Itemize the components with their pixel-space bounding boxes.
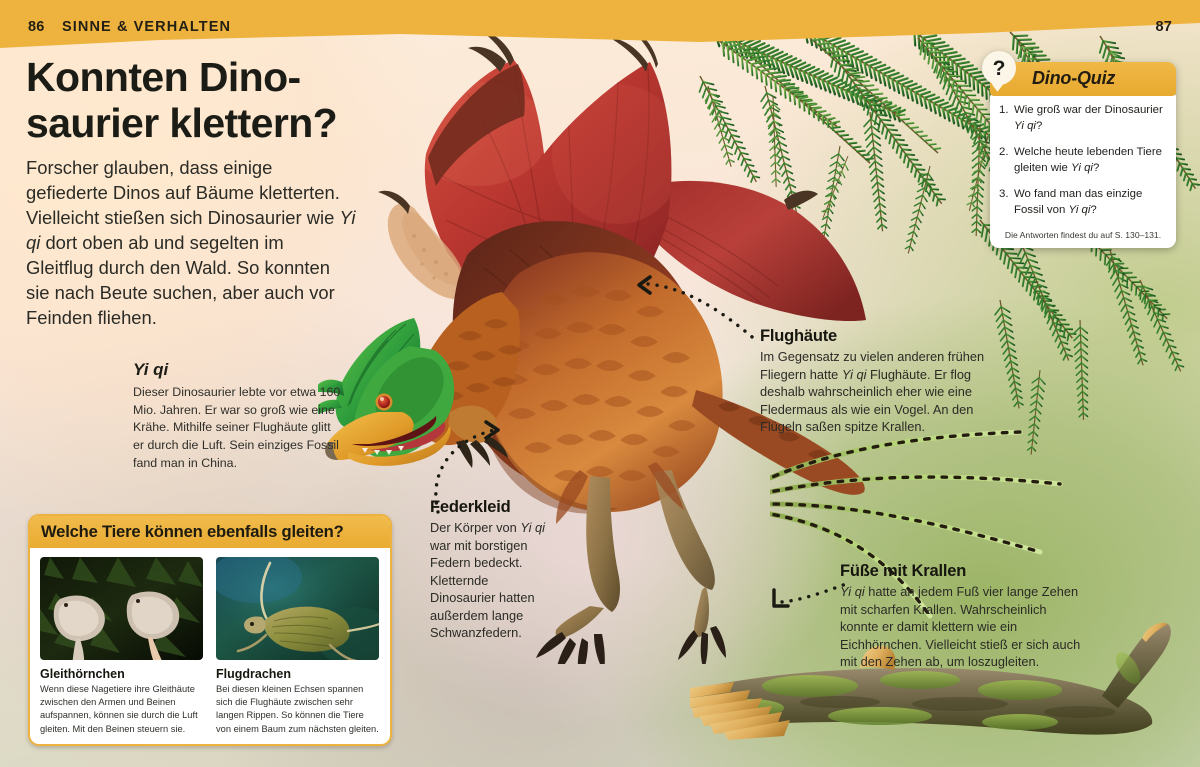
dino-quiz-title: Dino-Quiz: [1032, 68, 1115, 89]
quiz-item: 2.Welche heute lebenden Tiere gleiten wi…: [999, 145, 1167, 176]
gliding-squirrel-photo: [40, 557, 203, 660]
panel-item-flugdrachen: Flugdrachen Bei diesen kleinen Echsen sp…: [216, 557, 379, 736]
callout-heading: Flughäute: [760, 327, 992, 346]
panel-heading: Welche Tiere können ebenfalls gleiten?: [30, 516, 390, 548]
quiz-item-text: Wo fand man das einzige Fossil von Yi qi…: [1014, 187, 1167, 218]
panel-item-gleithoernchen: Gleithörnchen Wenn diese Nagetiere ihre …: [40, 557, 203, 736]
question-mark-icon: ?: [982, 51, 1016, 85]
callout-flughaeute: Flughäute Im Gegensatz zu vielen anderen…: [760, 327, 992, 436]
panel-item-body: Wenn diese Nagetiere ihre Gleithäute zwi…: [40, 683, 203, 736]
quiz-item: 3.Wo fand man das einzige Fossil von Yi …: [999, 187, 1167, 218]
callout-body: Der Körper von Yi qi war mit borstigen F…: [430, 519, 548, 642]
panel-item-body: Bei diesen kleinen Echsen spannen sich d…: [216, 683, 379, 736]
page-spread: 86 SINNE & VERHALTEN 87: [0, 0, 1200, 767]
section-title: SINNE & VERHALTEN: [62, 19, 231, 35]
quiz-item-text: Wie groß war der Dinosaurier Yi qi?: [1014, 103, 1167, 134]
dino-quiz-body: 1.Wie groß war der Dinosaurier Yi qi?2.W…: [990, 94, 1176, 248]
callout-body: Im Gegensatz zu vielen anderen frühen Fl…: [760, 348, 992, 436]
quiz-item: 1.Wie groß war der Dinosaurier Yi qi?: [999, 103, 1167, 134]
panel-grid: Gleithörnchen Wenn diese Nagetiere ihre …: [30, 548, 390, 736]
callout-federkleid: Federkleid Der Körper von Yi qi war mit …: [430, 498, 548, 642]
gliding-animals-panel: Welche Tiere können ebenfalls gleiten?: [28, 514, 392, 746]
intro-paragraph: Forscher glauben, dass einige gefiederte…: [26, 156, 356, 331]
quiz-item-number: 2.: [999, 145, 1014, 176]
dino-quiz-header: ? Dino-Quiz: [990, 62, 1176, 96]
yiqi-caption: Yi qi Dieser Dinosaurier lebte vor etwa …: [133, 360, 345, 473]
flying-dragon-lizard-photo: [216, 557, 379, 660]
callout-heading: Füße mit Krallen: [840, 562, 1088, 581]
dino-quiz-footnote: Die Antworten findest du auf S. 130–131.: [999, 230, 1167, 240]
page-number-right: 87: [1155, 19, 1172, 35]
callout-fuesse: Füße mit Krallen Yi qi hatte an jedem Fu…: [840, 562, 1088, 671]
panel-item-title: Flugdrachen: [216, 667, 379, 681]
page-number-left: 86: [28, 19, 45, 35]
quiz-item-number: 1.: [999, 103, 1014, 134]
leader-line-flughaeute: [630, 272, 780, 352]
callout-body: Yi qi hatte an jedem Fuß vier lange Zehe…: [840, 583, 1088, 671]
yiqi-caption-heading: Yi qi: [133, 360, 345, 380]
yiqi-caption-body: Dieser Dinosaurier lebte vor etwa 160 Mi…: [133, 384, 345, 473]
quiz-item-text: Welche heute lebenden Tiere gleiten wie …: [1014, 145, 1167, 176]
dino-quiz-box: ? Dino-Quiz 1.Wie groß war der Dinosauri…: [990, 62, 1176, 248]
quiz-item-number: 3.: [999, 187, 1014, 218]
callout-heading: Federkleid: [430, 498, 548, 517]
panel-item-title: Gleithörnchen: [40, 667, 203, 681]
page-title: Konnten Dino-saurier klettern?: [26, 54, 426, 147]
